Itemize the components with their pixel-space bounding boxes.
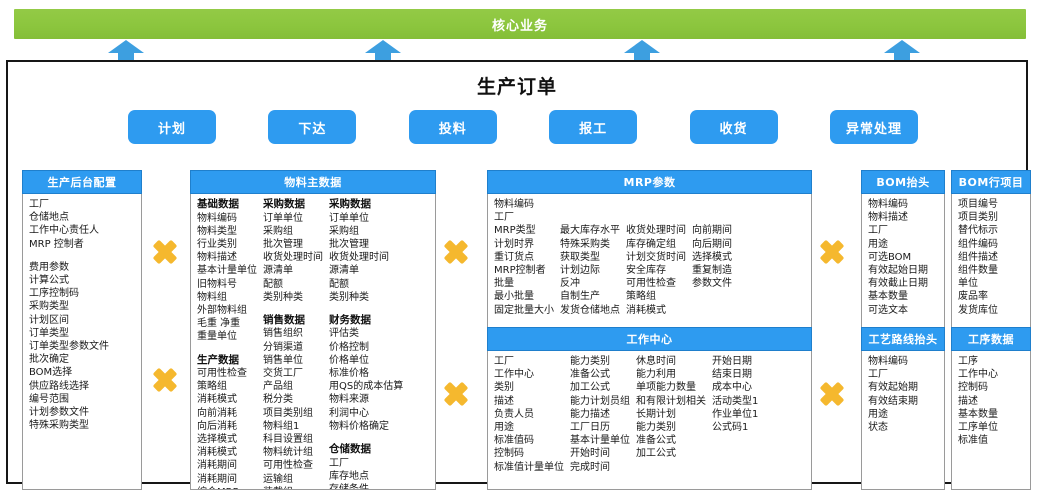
field-item: 休息时间 [636,355,706,368]
card-column: 项目编号项目类别替代标示组件编码组件描述组件数量单位废品率发货库位 [958,198,998,317]
field-item: 工厂 [868,224,928,237]
field-item: 采购类型 [29,300,109,313]
card-title-backend-config: 生产后台配置 [22,170,142,194]
field-item: 工作中心 [958,368,998,381]
field-item: 物料编码 [494,198,554,211]
field-item: 基本数量 [868,290,928,303]
field-item: 完成时间 [570,461,630,474]
field-item: 有效截止日期 [868,277,928,290]
page-title: 生产订单 [8,72,1026,99]
card-column-group: 工厂仓储地点工作中心责任人MRP 控制者费用参数计算公式工序控制码采购类型计划区… [29,198,136,432]
field-item: 选择模式 [692,251,732,264]
field-item: 准备公式 [570,368,630,381]
card-column: 收货处理时间库存确定组计划交货时间安全库存可用性检查策略组消耗模式 [626,198,686,317]
field-item: 库存确定组 [626,238,686,251]
field-item: 反冲 [560,277,620,290]
field-item: 控制码 [958,381,998,394]
group-heading: 采购数据 [263,198,323,212]
field-item: 项目类别 [958,211,998,224]
field-item: 消耗模式 [197,446,257,459]
field-item: 计划边际 [560,264,620,277]
field-item: 工序控制码 [29,287,109,300]
field-item: 计划区间 [29,314,109,327]
field-item: 有效结束期 [868,395,918,408]
field-item: BOM选择 [29,366,109,379]
card-body-routing-header: 物料编码工厂有效起始期有效结束期用途状态 [861,351,945,490]
group-heading: 基础数据 [197,198,257,212]
field-item: 工厂日历 [570,421,630,434]
field-item: 特殊采购类 [560,238,620,251]
card-column-group: 基础数据物料编码物料类型行业类别物料描述基本计量单位旧物料号物料组外部物料组毛重… [197,198,430,490]
group-spacer [197,344,257,354]
card-column: 采购数据订单单位采购组批次管理收货处理时间源清单配额类别种类财务数据评估类价格控… [329,198,403,490]
card-title-material-master: 物料主数据 [190,170,436,194]
group-spacer [329,433,403,443]
field-item: 活动类型1 [712,395,758,408]
field-item: 选择模式 [197,433,257,446]
field-item: 基本计量单位 [197,264,257,277]
card-column: 开始日期结束日期成本中心活动类型1作业单位1公式码1 [712,355,758,474]
field-item: 向前期间 [692,224,732,237]
field-item: 负责人员 [494,408,564,421]
field-item: 工作中心责任人 [29,224,109,237]
process-step-row: 计划 下达 投料 报工 收货 异常处理 [128,110,918,144]
field-item: 物料编码 [197,212,257,225]
card-column: 物料编码工厂有效起始期有效结束期用途状态 [868,355,918,434]
field-item: 科目设置组 [263,433,323,446]
field-item: 物料描述 [868,211,928,224]
field-item: 收货处理时间 [626,224,686,237]
x-connector-5 [819,239,845,265]
field-item: 可用性检查 [626,277,686,290]
card-body-mrp-parameters: 物料编码工厂MRP类型计划时界重订货点MRP控制者批量最小批量固定批量大小 最大… [487,194,812,334]
group-spacer [329,304,403,314]
field-item: 销售单位 [263,354,323,367]
field-item: 能力类别 [636,421,706,434]
card-operation-data: 工序数据 工序工作中心控制码描述基本数量工序单位标准值 [951,327,1031,490]
field-item: 有效起始期 [868,381,918,394]
group-heading: 财务数据 [329,314,403,328]
card-column-group: 物料编码物料描述工厂用途可选BOM有效起始日期有效截止日期基本数量可选文本 [868,198,939,317]
field-item: 可用性检查 [197,367,257,380]
field-item: 用途 [868,238,928,251]
field-item: 和有限计划相关 [636,395,706,408]
card-body-work-center: 工厂工作中心类别描述负责人员用途标准值码控制码标准值计量单位能力类别准备公式加工… [487,351,812,490]
field-item: 基本数量 [958,408,998,421]
field-item: 组件数量 [958,264,998,277]
field-item [626,211,686,224]
field-item: 工厂 [29,198,109,211]
field-item: 描述 [958,395,998,408]
field-item: 最小批量 [494,290,554,303]
field-item: 项目类别组 [263,407,323,420]
card-backend-config: 生产后台配置 工厂仓储地点工作中心责任人MRP 控制者费用参数计算公式工序控制码… [22,170,142,490]
field-item: 采购组 [329,225,403,238]
field-item: 源清单 [329,264,403,277]
card-column: 物料编码物料描述工厂用途可选BOM有效起始日期有效截止日期基本数量可选文本 [868,198,928,317]
field-item: 成本中心 [712,381,758,394]
field-item: 消耗期间 [197,473,257,486]
field-item: 装载组 [263,486,323,490]
field-item: 最大库存水平 [560,224,620,237]
field-item: 批次确定 [29,353,109,366]
field-item: 控制码 [494,447,564,460]
field-item: 外部物料组 [197,304,257,317]
field-item: 单项能力数量 [636,381,706,394]
card-column: 工厂工作中心类别描述负责人员用途标准值码控制码标准值计量单位 [494,355,564,474]
field-item: 基本计量单位 [570,434,630,447]
field-item: 税分类 [263,393,323,406]
field-item: 工序 [958,355,998,368]
card-bom-line-item: BOM行项目 项目编号项目类别替代标示组件编码组件描述组件数量单位废品率发货库位 [951,170,1031,334]
field-item: 消耗模式 [626,304,686,317]
card-bom-header: BOM抬头 物料编码物料描述工厂用途可选BOM有效起始日期有效截止日期基本数量可… [861,170,945,334]
group-heading: 仓储数据 [329,443,403,457]
x-connector-4 [443,381,469,407]
card-mrp-parameters: MRP参数 物料编码工厂MRP类型计划时界重订货点MRP控制者批量最小批量固定批… [487,170,812,334]
field-item: 产品组 [263,380,323,393]
card-column-group: 项目编号项目类别替代标示组件编码组件描述组件数量单位废品率发货库位 [958,198,1025,317]
field-item: 状态 [868,421,918,434]
field-item: 计划参数文件 [29,406,109,419]
card-column-group: 工厂工作中心类别描述负责人员用途标准值码控制码标准值计量单位能力类别准备公式加工… [494,355,806,474]
field-item: 重复制造 [692,264,732,277]
field-item: 重订货点 [494,251,554,264]
field-item: 订单类型 [29,327,109,340]
group-heading: 采购数据 [329,198,403,212]
card-title-routing-header: 工艺路线抬头 [861,327,945,351]
field-item: 订单单位 [263,212,323,225]
card-column: 采购数据订单单位采购组批次管理收货处理时间源清单配额类别种类销售数据销售组织分销… [263,198,323,490]
step-button-exception[interactable]: 异常处理 [830,110,918,144]
field-item: 旧物料号 [197,278,257,291]
card-routing-header: 工艺路线抬头 物料编码工厂有效起始期有效结束期用途状态 [861,327,945,490]
field-item: 策略组 [626,290,686,303]
field-item: 用QS的成本估算 [329,380,403,393]
field-item [692,198,732,211]
field-item: 发货仓储地点 [560,304,620,317]
x-connector-2 [152,367,178,393]
field-item: 能力类别 [570,355,630,368]
field-item: 废品率 [958,290,998,303]
field-item: 工厂 [494,355,564,368]
field-item: 类别种类 [263,291,323,304]
field-item: 获取类型 [560,251,620,264]
field-item: 工厂 [494,211,554,224]
field-item [560,198,620,211]
card-material-master: 物料主数据 基础数据物料编码物料类型行业类别物料描述基本计量单位旧物料号物料组外… [190,170,436,490]
field-item: 计划交货时间 [626,251,686,264]
field-item: 参数文件 [692,277,732,290]
field-item: 仓储地点 [29,211,109,224]
field-item [692,211,732,224]
field-item: 消耗模式 [197,393,257,406]
field-item: 源清单 [263,264,323,277]
field-item: 分销渠道 [263,341,323,354]
card-title-work-center: 工作中心 [487,327,812,351]
field-item: 结束日期 [712,368,758,381]
field-item: 销售组织 [263,327,323,340]
group-spacer [263,304,323,314]
card-column: 最大库存水平特殊采购类获取类型计划边际反冲自制生产发货仓储地点 [560,198,620,317]
field-item: 计算公式 [29,274,109,287]
field-item: 物料组 [197,291,257,304]
field-item: 存储条件 [329,483,403,490]
field-item: 有效起始日期 [868,264,928,277]
field-item: 可选文本 [868,304,928,317]
card-column: 物料编码工厂MRP类型计划时界重订货点MRP控制者批量最小批量固定批量大小 [494,198,554,317]
field-item: 发货库位 [958,304,998,317]
card-column: 能力类别准备公式加工公式能力计划员组能力描述工厂日历基本计量单位开始时间完成时间 [570,355,630,474]
card-body-operation-data: 工序工作中心控制码描述基本数量工序单位标准值 [951,351,1031,490]
field-item: MRP控制者 [494,264,554,277]
field-item: 能力计划员组 [570,395,630,408]
x-connector-3 [443,239,469,265]
field-item: 物料统计组 [263,446,323,459]
step-button-confirm[interactable]: 报工 [549,110,637,144]
field-item: 标准值码 [494,434,564,447]
card-column: 工厂仓储地点工作中心责任人MRP 控制者费用参数计算公式工序控制码采购类型计划区… [29,198,109,432]
field-item: 标准价格 [329,367,403,380]
card-column: 工序工作中心控制码描述基本数量工序单位标准值 [958,355,998,447]
field-item: MRP 控制者 [29,238,109,251]
core-business-title: 核心业务 [492,15,548,34]
field-item: 工厂 [868,368,918,381]
field-item: 费用参数 [29,261,109,274]
group-heading: 销售数据 [263,314,323,328]
field-item: 物料编码 [868,355,918,368]
step-button-plan[interactable]: 计划 [128,110,216,144]
card-column: 休息时间能力利用单项能力数量和有限计划相关长期计划能力类别准备公式加工公式 [636,355,706,474]
step-button-receive[interactable]: 收货 [690,110,778,144]
field-item: 自制生产 [560,290,620,303]
card-column: 基础数据物料编码物料类型行业类别物料描述基本计量单位旧物料号物料组外部物料组毛重… [197,198,257,490]
field-item: 物料来源 [329,393,403,406]
card-title-bom-line-item: BOM行项目 [951,170,1031,194]
field-item: MRP类型 [494,224,554,237]
field-item: 用途 [868,408,918,421]
field-item: 类别 [494,381,564,394]
card-body-bom-header: 物料编码物料描述工厂用途可选BOM有效起始日期有效截止日期基本数量可选文本 [861,194,945,334]
field-item: 特殊采购类型 [29,419,109,432]
field-item: 向后期间 [692,238,732,251]
step-button-release[interactable]: 下达 [268,110,356,144]
card-column-group: 物料编码工厂有效起始期有效结束期用途状态 [868,355,939,434]
card-column: 向前期间向后期间选择模式重复制造参数文件 [692,198,732,317]
field-item: 开始时间 [570,447,630,460]
field-item: 综合MRP [197,486,257,490]
field-item: 可用性检查 [263,459,323,472]
field-item: 加工公式 [570,381,630,394]
field-item: 库存地点 [329,470,403,483]
group-spacer [29,251,109,261]
field-item: 物料编码 [868,198,928,211]
field-item: 收货处理时间 [329,251,403,264]
field-item [626,198,686,211]
field-item: 配额 [329,278,403,291]
field-item: 毛重 净重 [197,317,257,330]
field-item: 编号范围 [29,393,109,406]
field-item: 采购组 [263,225,323,238]
field-item: 消耗期间 [197,459,257,472]
card-title-operation-data: 工序数据 [951,327,1031,351]
field-item: 订单单位 [329,212,403,225]
field-item: 标准值 [958,434,998,447]
field-item: 工作中心 [494,368,564,381]
field-item: 可选BOM [868,251,928,264]
card-column-group: 工序工作中心控制码描述基本数量工序单位标准值 [958,355,1025,447]
field-item: 交货工厂 [263,367,323,380]
field-item: 替代标示 [958,224,998,237]
field-item: 能力利用 [636,368,706,381]
field-item: 向后消耗 [197,420,257,433]
card-body-backend-config: 工厂仓储地点工作中心责任人MRP 控制者费用参数计算公式工序控制码采购类型计划区… [22,194,142,490]
field-item [560,211,620,224]
field-item: 组件描述 [958,251,998,264]
field-item: 价格控制 [329,341,403,354]
field-item: 向前消耗 [197,407,257,420]
field-item: 计划时界 [494,238,554,251]
card-title-mrp-parameters: MRP参数 [487,170,812,194]
field-item: 单位 [958,277,998,290]
field-item: 价格单位 [329,354,403,367]
field-item: 物料价格确定 [329,420,403,433]
field-item: 物料描述 [197,251,257,264]
card-body-material-master: 基础数据物料编码物料类型行业类别物料描述基本计量单位旧物料号物料组外部物料组毛重… [190,194,436,490]
card-column-group: 物料编码工厂MRP类型计划时界重订货点MRP控制者批量最小批量固定批量大小 最大… [494,198,806,317]
field-item: 供应路线选择 [29,380,109,393]
field-item: 行业类别 [197,238,257,251]
field-item: 标准值计量单位 [494,461,564,474]
field-item: 重量单位 [197,330,257,343]
field-item: 项目编号 [958,198,998,211]
field-item: 类别种类 [329,291,403,304]
field-item: 固定批量大小 [494,304,554,317]
field-item: 安全库存 [626,264,686,277]
field-item: 评估类 [329,327,403,340]
field-item: 物料组1 [263,420,323,433]
step-button-issue[interactable]: 投料 [409,110,497,144]
field-item: 工序单位 [958,421,998,434]
card-body-bom-line-item: 项目编号项目类别替代标示组件编码组件描述组件数量单位废品率发货库位 [951,194,1031,334]
field-item: 利润中心 [329,407,403,420]
field-item: 开始日期 [712,355,758,368]
card-work-center: 工作中心 工厂工作中心类别描述负责人员用途标准值码控制码标准值计量单位能力类别准… [487,327,812,490]
x-connector-6 [819,381,845,407]
group-heading: 生产数据 [197,354,257,368]
field-item: 批次管理 [263,238,323,251]
field-item: 收货处理时间 [263,251,323,264]
field-item: 加工公式 [636,447,706,460]
field-item: 组件编码 [958,238,998,251]
field-item: 能力描述 [570,408,630,421]
field-item: 描述 [494,395,564,408]
field-item: 运输组 [263,473,323,486]
field-item: 长期计划 [636,408,706,421]
field-item: 公式码1 [712,421,758,434]
field-item: 物料类型 [197,225,257,238]
x-connector-1 [152,239,178,265]
field-item: 策略组 [197,380,257,393]
core-business-banner: 核心业务 [14,9,1026,39]
card-title-bom-header: BOM抬头 [861,170,945,194]
field-item: 作业单位1 [712,408,758,421]
field-item: 批量 [494,277,554,290]
field-item: 订单类型参数文件 [29,340,109,353]
field-item: 工厂 [329,457,403,470]
field-item: 批次管理 [329,238,403,251]
field-item: 配额 [263,278,323,291]
field-item: 准备公式 [636,434,706,447]
field-item: 用途 [494,421,564,434]
